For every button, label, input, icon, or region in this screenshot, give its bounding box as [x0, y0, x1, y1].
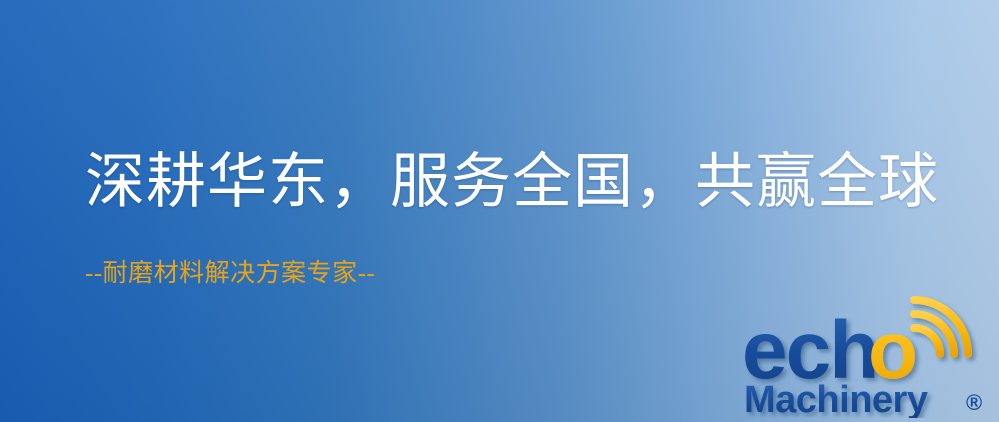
company-logo[interactable]: ech o Machinery ® echo Machinery	[742, 296, 994, 418]
promo-banner: 深耕华东，服务全国，共赢全球 --耐磨材料解决方案专家--	[0, 0, 999, 422]
banner-headline: 深耕华东，服务全国，共赢全球	[85, 150, 965, 215]
broadcast-signal-arcs-icon	[914, 300, 968, 354]
banner-subheadline: --耐磨材料解决方案专家--	[85, 215, 965, 289]
logo-registered-mark: ®	[966, 390, 982, 415]
logo-text-machinery: Machinery	[744, 379, 928, 418]
logo-wordmark-svg: ech o Machinery ®	[742, 296, 994, 418]
banner-copy-block: 深耕华东，服务全国，共赢全球 --耐磨材料解决方案专家--	[85, 150, 965, 289]
